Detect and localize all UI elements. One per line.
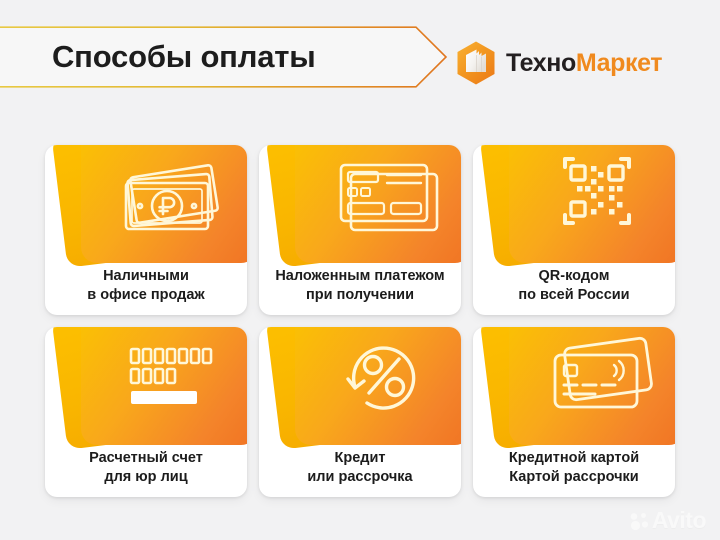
card-label: QR-кодом по всей России bbox=[473, 257, 675, 315]
card-label: Кредит или рассрочка bbox=[259, 439, 461, 497]
card-label: Наложенным платежом при получении bbox=[259, 257, 461, 315]
brand-name-part2: Маркет bbox=[576, 49, 662, 77]
payment-card-cash[interactable]: Наличными в офисе продаж bbox=[45, 145, 247, 315]
header-banner: Способы оплаты bbox=[0, 26, 448, 88]
card-label: Наличными в офисе продаж bbox=[45, 257, 247, 315]
card-artwork bbox=[45, 327, 247, 439]
credit-cards-contactless-icon bbox=[509, 327, 675, 445]
card-label-line1: Наличными bbox=[103, 267, 189, 286]
card-label-line2: в офисе продаж bbox=[87, 286, 204, 305]
card-label-line2: при получении bbox=[306, 286, 414, 305]
qr-code-icon bbox=[509, 145, 675, 263]
card-label-line2: или рассрочка bbox=[307, 468, 412, 487]
card-label: Расчетный счет для юр лиц bbox=[45, 439, 247, 497]
avito-dots-icon bbox=[629, 511, 649, 531]
payment-card-credit-card[interactable]: Кредитной картой Картой рассрочки bbox=[473, 327, 675, 497]
card-artwork bbox=[473, 145, 675, 257]
avito-watermark: Avito bbox=[629, 509, 706, 532]
bank-account-number-icon bbox=[81, 327, 247, 445]
brand-name-part1: Техно bbox=[506, 49, 576, 77]
payment-methods-grid: Наличными в офисе продаж bbox=[45, 145, 675, 497]
card-label-line2: для юр лиц bbox=[104, 468, 187, 487]
card-artwork bbox=[473, 327, 675, 439]
brand-name: ТехноМаркет bbox=[506, 51, 662, 76]
card-label-line1: Наложенным платежом bbox=[275, 267, 444, 286]
avito-watermark-text: Avito bbox=[652, 509, 706, 532]
hexagon-logo-icon bbox=[455, 40, 497, 86]
card-artwork bbox=[45, 145, 247, 257]
payment-card-cash-on-delivery[interactable]: Наложенным платежом при получении bbox=[259, 145, 461, 315]
payment-card-qr[interactable]: QR-кодом по всей России bbox=[473, 145, 675, 315]
brand-logo: ТехноМаркет bbox=[455, 40, 662, 86]
page-title: Способы оплаты bbox=[52, 26, 316, 88]
card-artwork bbox=[259, 327, 461, 439]
card-label: Кредитной картой Картой рассрочки bbox=[473, 439, 675, 497]
percent-refresh-icon bbox=[295, 327, 461, 445]
card-label-line1: Кредитной картой bbox=[509, 449, 639, 468]
banknotes-ruble-icon bbox=[81, 145, 247, 263]
card-label-line2: по всей России bbox=[518, 286, 629, 305]
card-label-line1: Расчетный счет bbox=[89, 449, 203, 468]
payment-card-credit[interactable]: Кредит или рассрочка bbox=[259, 327, 461, 497]
card-label-line1: Кредит bbox=[335, 449, 386, 468]
payment-card-bank-account[interactable]: Расчетный счет для юр лиц bbox=[45, 327, 247, 497]
card-label-line2: Картой рассрочки bbox=[509, 468, 638, 487]
card-artwork bbox=[259, 145, 461, 257]
card-label-line1: QR-кодом bbox=[539, 267, 610, 286]
invoice-documents-icon bbox=[295, 145, 461, 263]
